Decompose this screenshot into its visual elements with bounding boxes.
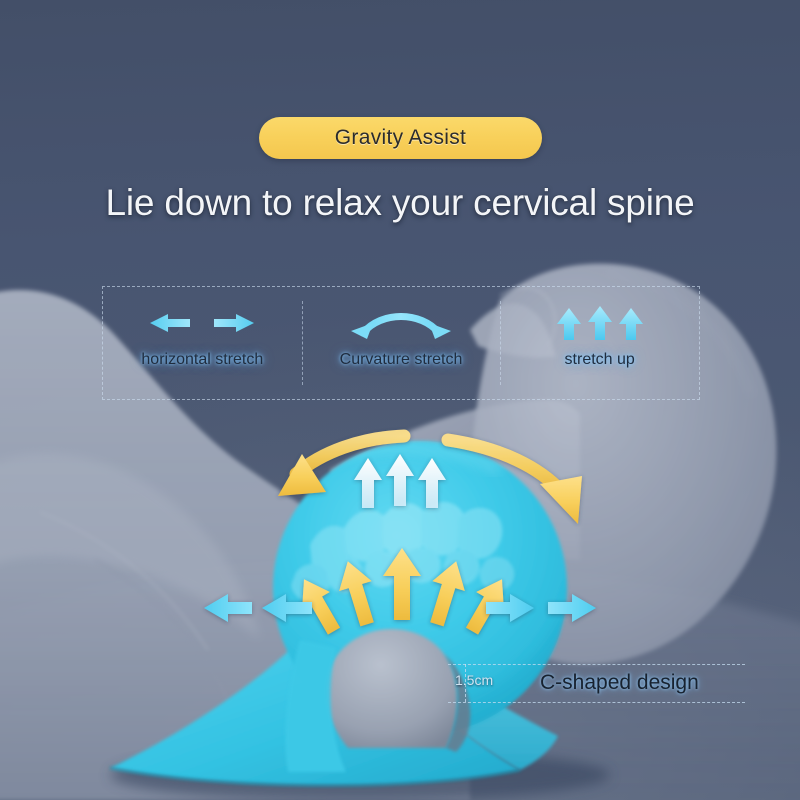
measurement-label: 1.5cm xyxy=(455,672,493,688)
badge-label: Gravity Assist xyxy=(335,126,466,150)
feature-label: stretch up xyxy=(565,351,635,369)
arrow-curve-right xyxy=(448,440,582,524)
gravity-assist-badge: Gravity Assist xyxy=(259,117,542,159)
double-horizontal-arrow-icon xyxy=(142,287,262,351)
dimension-line-bottom xyxy=(448,702,745,703)
curved-arch-arrow-icon xyxy=(341,287,461,351)
feature-label: horizontal stretch xyxy=(141,351,263,369)
arrow-curve-left xyxy=(278,436,404,496)
triple-up-arrow-icon xyxy=(545,287,655,351)
page-title: Lie down to relax your cervical spine xyxy=(0,182,800,224)
arrows-fan-yellow xyxy=(290,548,516,639)
feature-row: horizontal stretch Curvature stretch xyxy=(102,286,700,400)
feature-stretch-up: stretch up xyxy=(500,287,699,399)
feature-curvature-stretch: Curvature stretch xyxy=(302,287,501,399)
dimension-line-top xyxy=(448,664,745,665)
arrows-up-white xyxy=(354,454,446,508)
design-label: C-shaped design xyxy=(540,671,699,695)
feature-horizontal-stretch: horizontal stretch xyxy=(103,287,302,399)
feature-label: Curvature stretch xyxy=(340,351,463,369)
arrows-horizontal-left xyxy=(204,594,312,622)
product-infographic: Gravity Assist Lie down to relax your ce… xyxy=(0,0,800,800)
